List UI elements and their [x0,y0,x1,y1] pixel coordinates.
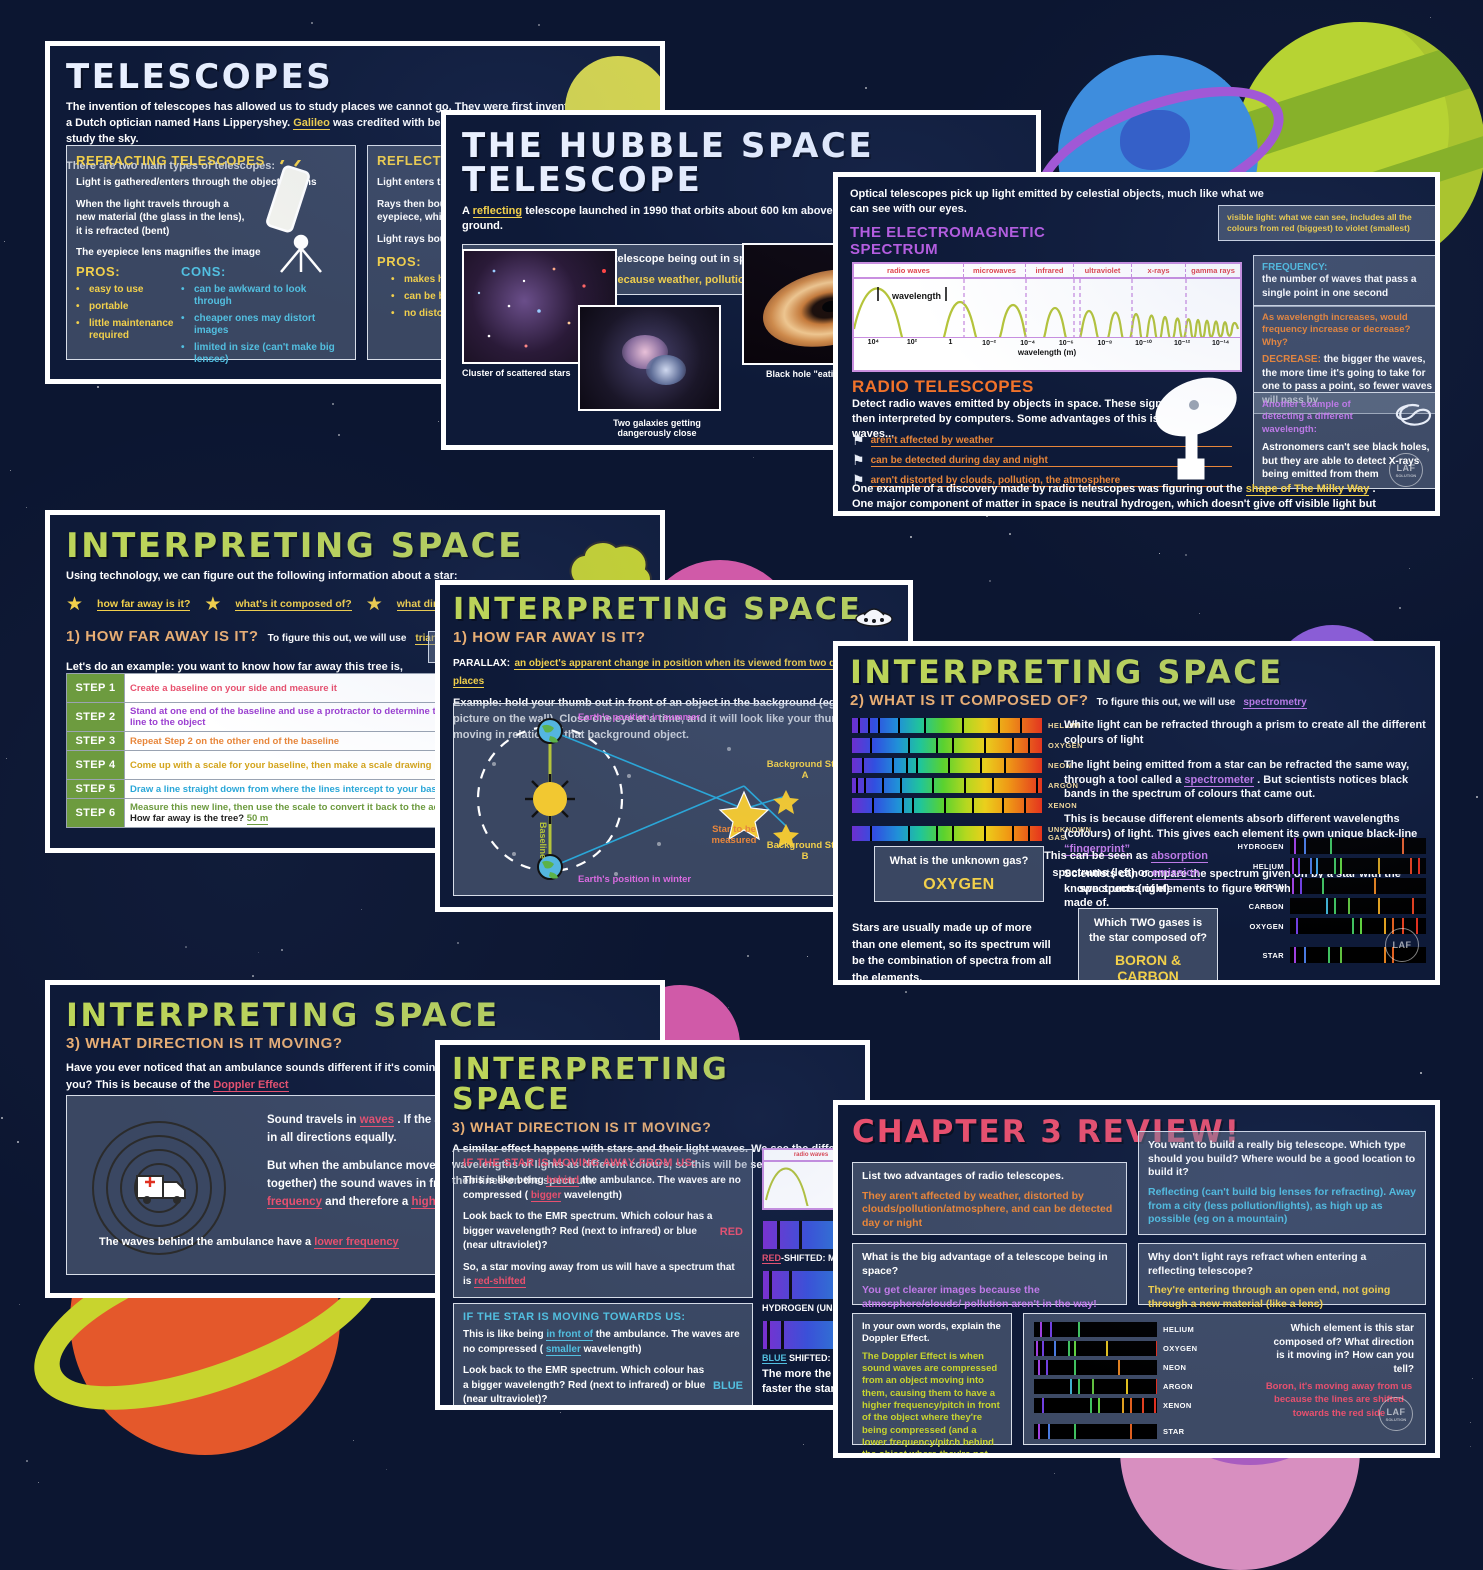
review-answer: Reflecting (can't build big lenses for r… [1148,1186,1416,1227]
emission-bar [1034,1360,1157,1375]
spectrum-bar [852,718,1042,733]
refracting-cons-list: can be awkward to look through cheaper o… [181,284,346,366]
tick-label: 10² [893,339,932,347]
photo-two-galaxies [578,305,721,411]
emission-bar [1290,898,1426,914]
ufo-icon [854,601,894,631]
label-star-measured: Star to be measured [698,824,770,846]
refracting-pros-list: easy to use portable little maintenance … [76,284,181,342]
page-title: INTERPRETING SPACE [453,595,895,625]
flag-icon: ⚑ [852,453,865,467]
slide-composed-of[interactable]: INTERPRETING SPACE 2) WHAT IS IT COMPOSE… [833,641,1440,985]
spectrum-bar [852,778,1042,793]
frequency-text: the number of waves that pass a single p… [1262,273,1434,300]
emission-label: STAR [1163,1427,1209,1436]
list-item: easy to use [76,284,181,296]
emr-band: ultraviolet [1074,264,1132,277]
star-icon: ★ [204,593,221,616]
laf-logo: LAF [1385,928,1419,962]
emission-label: HYDROGEN [1226,842,1284,851]
spectrum-row-unknown: UNKNOWN GAS [852,826,1090,842]
review-answer: You get clearer images because the atmos… [862,1284,1117,1311]
moving-away-box: IF THE STAR IS MOVING AWAY FROM US: This… [453,1149,753,1298]
emission-label: HELIUM [1226,862,1284,871]
frequency-answer: frequency [267,1196,322,1209]
page-title: INTERPRETING SPACE [452,1055,853,1115]
emission-label: OXYGEN [1226,922,1284,931]
flag-icon: ⚑ [852,433,865,447]
milky-way-answer: shape of The Milky Way [1246,483,1370,496]
spectrum-bar [852,738,1042,753]
emr-axis-label: wavelength (m) [854,348,1240,357]
slide-electromagnetic-spectrum[interactable]: Optical telescopes pick up light emitted… [833,172,1440,516]
parallax-definition: an object's apparent change in position … [453,658,869,688]
tick-label: 10⁻⁶ [1047,339,1086,347]
red-shifted-answer: red-shifted [474,1276,526,1288]
spectrometer-answer: spectrometer [1184,774,1254,787]
interp1-question: 1) HOW FAR AWAY IS IT? [66,628,259,645]
behind-answer: behind [546,1175,579,1187]
review-card-5: In your own words, explain the Doppler E… [852,1313,1012,1445]
radio-telescopes-heading: RADIO TELESCOPES [852,377,1034,397]
emission-row: HYDROGEN [1226,838,1426,854]
review-card-2: You want to build a really big telescope… [1138,1131,1426,1235]
emr-tick-labels: 10⁴ 10² 1 10⁻² 10⁻⁴ 10⁻⁶ 10⁻⁸ 10⁻¹⁰ 10⁻¹… [854,337,1240,348]
spectrum-bar [852,758,1042,773]
emission-row: ARGON [1034,1379,1209,1394]
composed-para-2: The light being emitted from a star can … [1064,758,1432,803]
label-earth-winter: Earth's position in winter [578,874,691,885]
review-card-4: Why don't light rays refract when enteri… [1138,1243,1426,1305]
galaxy-spiral-icon [1392,399,1434,431]
slide-chapter-review[interactable]: CHAPTER 3 REVIEW! List two advantages of… [833,1100,1440,1458]
review-question: List two advantages of radio telescopes. [862,1170,1117,1184]
review-card-1: List two advantages of radio telescopes.… [852,1162,1127,1235]
step-key: STEP 3 [67,732,125,751]
laf-logo: LAF SOLUTION [1389,453,1423,487]
emr-band: gamma rays [1186,264,1240,277]
emission-row: BORON [1226,878,1426,894]
refracting-telescope-panel: REFRACTING TELESCOPES Light is gathered/… [66,145,356,360]
moving-towards-l1: This is like being in front of the ambul… [463,1328,743,1357]
wavelength-inline-label: wavelength [891,291,941,301]
spectrum-row: NEON [852,758,1090,773]
emission-bar [1034,1322,1157,1337]
star-question: what's it composed of? [235,598,351,611]
emr-wave-plot: wavelength [854,279,1240,337]
step-key: STEP 5 [67,780,125,799]
visible-light-callout-text: visible light: what we can see, includes… [1227,212,1437,234]
step-key: STEP 6 [67,799,125,828]
emr-heading: THE ELECTROMAGNETIC SPECTRUM [850,224,1060,259]
tree-distance-answer: 50 m [247,813,269,825]
emr-band: microwaves [964,264,1026,277]
review-question: What is the big advantage of a telescope… [862,1251,1117,1278]
label-baseline: Baseline [538,822,548,859]
step-key: STEP 4 [67,751,125,780]
smaller-answer: smaller [546,1344,581,1356]
emission-label: CARBON [1226,902,1284,911]
emission-bar [1034,1341,1157,1356]
step-key: STEP 2 [67,703,125,732]
page-title: TELESCOPES [66,60,644,94]
emr-chart: radio waves microwaves infrared ultravio… [852,262,1242,372]
optical-telescopes-text: Optical telescopes pick up light emitted… [850,187,1280,217]
emission-row: OXYGEN [1034,1341,1209,1356]
star-icon: ★ [66,593,83,616]
spectrum-row: XENON [852,798,1090,813]
composed-question: 2) WHAT IS IT COMPOSED OF? [850,692,1089,709]
emr-band: radio waves [854,264,964,277]
list-item: little maintenance required [76,318,181,342]
emr-band-headers: radio waves microwaves infrared ultravio… [854,264,1240,279]
review-spectra-list: HELIUM OXYGEN NEON [1034,1322,1209,1443]
parallax-definition-row: PARALLAX: an object's apparent change in… [453,653,895,689]
review-final-question: Which element is this star composed of? … [1264,1322,1414,1376]
moving-away-l1: This is like being behind the ambulance.… [463,1174,743,1203]
stars-combination-note: Stars are usually made up of more than o… [852,920,1057,985]
doppler-effect-answer: Doppler Effect [213,1079,288,1092]
emission-bar [1290,838,1426,854]
tick-label: 10⁻⁸ [1086,339,1125,347]
caption-two-galaxies: Two galaxies getting dangerously close [592,418,722,438]
spectrum-row: HELIUM [852,718,1090,733]
blue-answer: BLUE [713,1380,743,1392]
moving-away-l3: So, a star moving away from us will have… [463,1261,743,1290]
visible-light-callout: visible light: what we can see, includes… [1218,205,1440,241]
moving-towards-box: IF THE STAR IS MOVING TOWARDS US: This i… [453,1303,753,1410]
review-question: You want to build a really big telescope… [1148,1139,1416,1180]
emission-row: XENON [1034,1398,1209,1413]
emission-bar [1034,1424,1157,1439]
step-key: STEP 1 [67,674,125,703]
doppler-light-question: 3) WHAT DIRECTION IS IT MOVING? [452,1119,853,1135]
moving-towards-heading: IF THE STAR IS MOVING TOWARDS US: [463,1311,743,1323]
two-gases-box: Which TWO gases is the star composed of?… [1078,908,1218,985]
spectrum-bar [852,798,1042,813]
other-wavelength-heading: Another example of detecting a different… [1262,399,1387,436]
emr-band: x-rays [1132,264,1186,277]
absorption-answer: absorption [1151,850,1208,863]
emission-bar [1034,1398,1157,1413]
caption-star-cluster: Cluster of scattered stars [462,368,571,378]
emission-label: HELIUM [1163,1325,1209,1334]
frequency-heading: FREQUENCY: [1262,262,1434,273]
unknown-gas-question: What is the unknown gas? [884,854,1034,869]
red-answer: RED [720,1226,743,1238]
emission-answer: emission [1152,867,1200,880]
in-front-of-answer: in front of [546,1329,593,1341]
step-text: Come up with a scale for your baseline, … [125,751,477,780]
emr-band: infrared [1026,264,1074,277]
refracting-line-2: When the light travels through a new mat… [76,198,246,239]
star-question: how far away is it? [97,598,190,611]
moving-towards-l2-row: Look back to the EMR spectrum. Which col… [463,1364,743,1408]
tick-label: 10⁻¹² [1163,339,1202,347]
frequency-question: As wavelength increases, would frequency… [1262,312,1434,349]
review-answer: They aren't affected by weather, distort… [862,1190,1117,1231]
tick-label: 1 [931,339,970,347]
tick-label: 10⁻¹⁰ [1124,339,1163,347]
review-question: Why don't light rays refract when enteri… [1148,1251,1416,1278]
review-question: In your own words, explain the Doppler E… [862,1321,1002,1346]
emission-label: ARGON [1163,1382,1209,1391]
emission-row: STAR [1034,1424,1209,1439]
slide-doppler-light[interactable]: INTERPRETING SPACE 3) WHAT DIRECTION IS … [435,1040,870,1410]
radio-discovery-text: One example of a discovery made by radio… [852,482,1392,516]
tick-label: 10⁻¹⁴ [1201,339,1240,347]
emission-label: NEON [1163,1363,1209,1372]
lower-frequency-answer: lower frequency [314,1236,398,1249]
list-item: can be awkward to look through [181,284,346,308]
page-title: INTERPRETING SPACE [850,656,1423,688]
emission-label: XENON [1163,1401,1209,1410]
refracting-pros-label: PROS: [76,264,181,279]
emission-label: STAR [1226,951,1284,960]
tick-label: 10⁻⁴ [1008,339,1047,347]
spectrum-row: ARGON [852,778,1090,793]
composed-para-1: White light can be refracted through a p… [1064,718,1432,748]
absorption-emission-text: This can be seen as absorption spectrums… [1026,848,1226,898]
reflecting-answer: reflecting [473,205,523,218]
page-title: INTERPRETING SPACE [66,999,644,1031]
laf-logo: LAF SOLUTION [1379,1397,1413,1431]
emission-bar [1290,858,1426,874]
tick-label: 10⁻² [970,339,1009,347]
two-gases-question: Which TWO gases is the star composed of? [1088,916,1208,946]
step-text: Create a baseline on your side and measu… [125,674,477,703]
radio-dish-icon [1138,375,1248,485]
waves-answer: waves [360,1114,395,1127]
emission-row: HELIUM [1034,1322,1209,1337]
review-answer: The Doppler Effect is when sound waves a… [862,1351,1002,1458]
label-earth-summer: Earth's position in summer [578,712,700,723]
emission-bar [1290,878,1426,894]
refracting-telescope-icon [251,160,351,275]
list-item: portable [76,301,181,313]
list-item: cheaper ones may distort images [181,313,346,337]
emission-row: CARBON [1226,898,1426,914]
emission-label: OXYGEN [1163,1344,1209,1353]
bigger-answer: bigger [531,1190,562,1202]
emission-bar [1034,1379,1157,1394]
element-spectra-list: HELIUM OXYGEN NEON ARGON [852,718,1090,847]
frequency-definition-box: FREQUENCY: the number of waves that pass… [1253,255,1440,307]
galileo-answer: Galileo [293,117,330,130]
star-icon: ★ [366,593,383,616]
spectrum-bar [852,826,1042,841]
unknown-gas-box: What is the unknown gas? OXYGEN [874,846,1044,902]
spectrum-row: OXYGEN [852,738,1090,753]
emission-row: NEON [1034,1360,1209,1375]
tick-label: 10⁴ [854,339,893,347]
emission-label: BORON [1226,882,1284,891]
review-spectra-panel: HELIUM OXYGEN NEON [1023,1313,1426,1445]
unknown-gas-answer: OXYGEN [884,876,1034,894]
review-answer: They're entering through an open end, no… [1148,1284,1416,1311]
moving-away-l2-row: Look back to the EMR spectrum. Which col… [463,1210,743,1254]
review-card-3: What is the big advantage of a telescope… [852,1243,1127,1305]
emission-row: HELIUM [1226,858,1426,874]
parallax-question: 1) HOW FAR AWAY IS IT? [453,629,895,646]
list-item: limited in size (can't make big lenses) [181,342,346,366]
moving-away-heading: IF THE STAR IS MOVING AWAY FROM US: [463,1157,743,1169]
spectrometry-answer: spectrometry [1243,697,1306,709]
two-gases-answer: BORON & CARBON [1088,952,1208,984]
page-title: INTERPRETING SPACE [66,529,644,563]
composed-question-row: 2) WHAT IS IT COMPOSED OF? To figure thi… [850,692,1423,710]
